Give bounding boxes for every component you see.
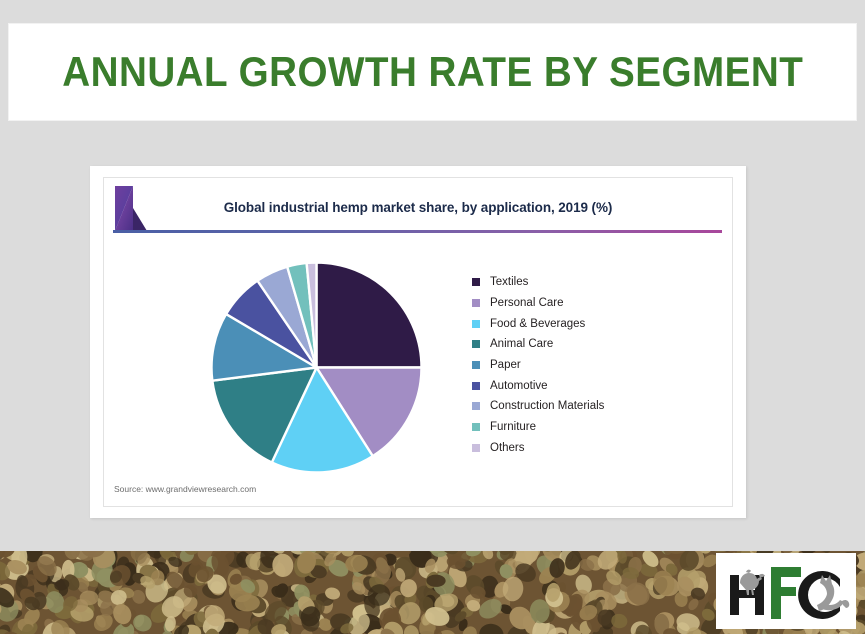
legend-swatch-icon xyxy=(472,340,480,348)
legend-swatch-icon xyxy=(472,382,480,390)
pie-slice xyxy=(317,263,422,368)
legend-item-label: Others xyxy=(490,442,525,454)
legend-item-label: Animal Care xyxy=(490,338,553,350)
legend-swatch-icon xyxy=(472,320,480,328)
legend-item-label: Paper xyxy=(490,359,521,371)
legend-swatch-icon xyxy=(472,299,480,307)
legend-item[interactable]: Automotive xyxy=(472,375,702,396)
chart-card: Global industrial hemp market share, by … xyxy=(90,166,746,518)
chart-title: Global industrial hemp market share, by … xyxy=(104,200,732,215)
page-title: ANNUAL GROWTH RATE BY SEGMENT xyxy=(62,48,803,96)
chart-inner-panel: Global industrial hemp market share, by … xyxy=(103,177,733,507)
pie-slice-group xyxy=(212,263,422,473)
chart-legend: TextilesPersonal CareFood & BeveragesAni… xyxy=(472,272,702,458)
legend-swatch-icon xyxy=(472,423,480,431)
legend-item[interactable]: Construction Materials xyxy=(472,396,702,417)
legend-item[interactable]: Paper xyxy=(472,355,702,376)
legend-item-label: Construction Materials xyxy=(490,400,604,412)
legend-item[interactable]: Furniture xyxy=(472,417,702,438)
legend-item[interactable]: Others xyxy=(472,438,702,459)
legend-swatch-icon xyxy=(472,402,480,410)
pie-chart-svg xyxy=(209,260,424,475)
legend-item-label: Food & Beverages xyxy=(490,318,585,330)
legend-swatch-icon xyxy=(472,361,480,369)
pie-chart xyxy=(209,260,424,475)
legend-swatch-icon xyxy=(472,444,480,452)
legend-item[interactable]: Animal Care xyxy=(472,334,702,355)
hfc-logo xyxy=(716,553,856,629)
chart-header: Global industrial hemp market share, by … xyxy=(104,178,732,236)
legend-item-label: Textiles xyxy=(490,276,528,288)
hfc-logo-svg xyxy=(716,553,856,629)
chart-title-rule xyxy=(113,230,722,233)
legend-item-label: Furniture xyxy=(490,421,536,433)
legend-item[interactable]: Textiles xyxy=(472,272,702,293)
legend-swatch-icon xyxy=(472,278,480,286)
legend-item[interactable]: Personal Care xyxy=(472,293,702,314)
legend-item-label: Personal Care xyxy=(490,297,564,309)
legend-item[interactable]: Food & Beverages xyxy=(472,313,702,334)
chart-source-note: Source: www.grandviewresearch.com xyxy=(114,484,256,494)
legend-item-label: Automotive xyxy=(490,380,548,392)
slide-title-banner: ANNUAL GROWTH RATE BY SEGMENT xyxy=(9,24,856,120)
